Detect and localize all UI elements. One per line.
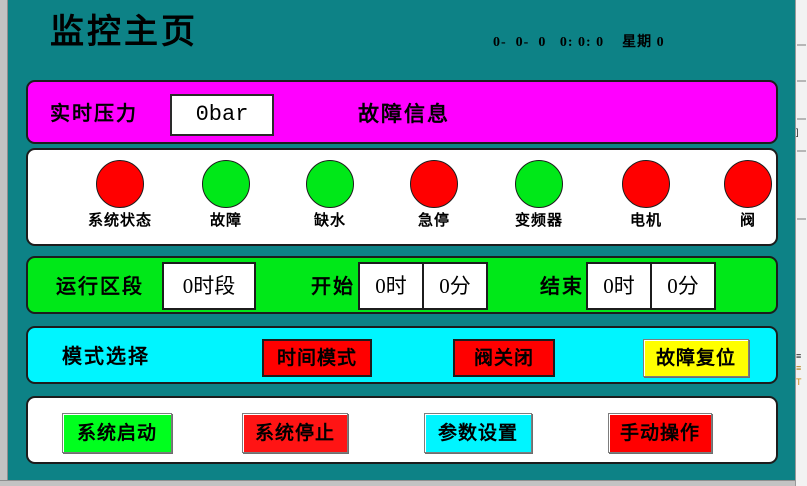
end-hour-value: 0时 [603, 276, 635, 297]
start-time-label: 开始 [311, 277, 355, 297]
status-light-label: 故障 [178, 213, 274, 229]
water-shortage-light [306, 160, 354, 208]
datetime-display: 0- 0- 0 0: 0: 0 星期 0 [493, 36, 665, 50]
mode-select-panel: 模式选择 时间模式 阀关闭 故障复位 [26, 326, 778, 384]
status-light-label: 系统状态 [72, 213, 168, 229]
inverter-light [515, 160, 563, 208]
valve-closed-button[interactable]: 阀关闭 [453, 339, 555, 377]
action-button-panel: 系统启动 系统停止 参数设置 手动操作 [26, 396, 778, 464]
system-stop-button[interactable]: 系统停止 [242, 413, 348, 453]
status-light-label: 变频器 [491, 213, 587, 229]
manual-operation-button[interactable]: 手动操作 [608, 413, 712, 453]
run-section-value: 0时段 [183, 276, 236, 297]
run-section-field[interactable]: 0时段 [162, 262, 256, 310]
start-hour-value: 0时 [375, 276, 407, 297]
status-lights-panel: 系统状态 故障 缺水 急停 变频器 电机 [26, 148, 778, 246]
status-light-label: 缺水 [282, 213, 378, 229]
fault-info-label: 故障信息 [358, 104, 450, 124]
end-minute-value: 0分 [667, 276, 699, 297]
emergency-stop-light [410, 160, 458, 208]
sliver-glyph: ≡ [796, 352, 806, 361]
motor-light [622, 160, 670, 208]
window-left-rail [0, 0, 8, 486]
sliver-glyph: ] [796, 128, 806, 137]
start-minute-value: 0分 [439, 276, 471, 297]
pressure-panel: 实时压力 0bar 故障信息 [26, 80, 778, 144]
status-light-cell: 系统状态 [72, 160, 168, 229]
status-light-label: 阀 [700, 213, 796, 229]
system-start-button[interactable]: 系统启动 [62, 413, 172, 453]
background-window-sliver: ] ≡ ≡ T [795, 0, 807, 486]
fault-light [202, 160, 250, 208]
run-section-label: 运行区段 [56, 277, 144, 297]
pressure-label: 实时压力 [50, 104, 138, 124]
status-light-cell: 变频器 [491, 160, 587, 229]
pressure-value: 0bar [196, 104, 249, 126]
header: 监控主页 0- 0- 0 0: 0: 0 星期 0 [8, 0, 795, 74]
run-schedule-panel: 运行区段 0时段 开始 0时 0分 结束 0时 0分 [26, 256, 778, 314]
system-status-light [96, 160, 144, 208]
window-bottom-rail [0, 480, 807, 486]
start-hour-field[interactable]: 0时 [358, 262, 424, 310]
status-light-cell: 故障 [178, 160, 274, 229]
status-light-label: 急停 [386, 213, 482, 229]
fault-reset-button[interactable]: 故障复位 [643, 339, 749, 377]
sliver-glyph: ≡ [796, 364, 806, 373]
start-minute-field[interactable]: 0分 [422, 262, 488, 310]
status-light-label: 电机 [598, 213, 694, 229]
sliver-glyph: T [796, 378, 806, 387]
page-title: 监控主页 [50, 16, 198, 50]
status-light-cell: 电机 [598, 160, 694, 229]
status-light-cell: 缺水 [282, 160, 378, 229]
status-light-cell: 急停 [386, 160, 482, 229]
status-light-cell: 阀 [700, 160, 796, 229]
valve-light [724, 160, 772, 208]
end-time-label: 结束 [540, 277, 584, 297]
time-mode-button[interactable]: 时间模式 [262, 339, 372, 377]
parameter-settings-button[interactable]: 参数设置 [424, 413, 532, 453]
pressure-value-field[interactable]: 0bar [170, 94, 274, 136]
hmi-screen: ] ≡ ≡ T 监控主页 0- 0- 0 0: 0: 0 星期 0 实时压力 0… [0, 0, 807, 486]
mode-select-label: 模式选择 [62, 347, 150, 367]
end-minute-field[interactable]: 0分 [650, 262, 716, 310]
hmi-canvas: 监控主页 0- 0- 0 0: 0: 0 星期 0 实时压力 0bar 故障信息… [8, 0, 795, 480]
end-hour-field[interactable]: 0时 [586, 262, 652, 310]
